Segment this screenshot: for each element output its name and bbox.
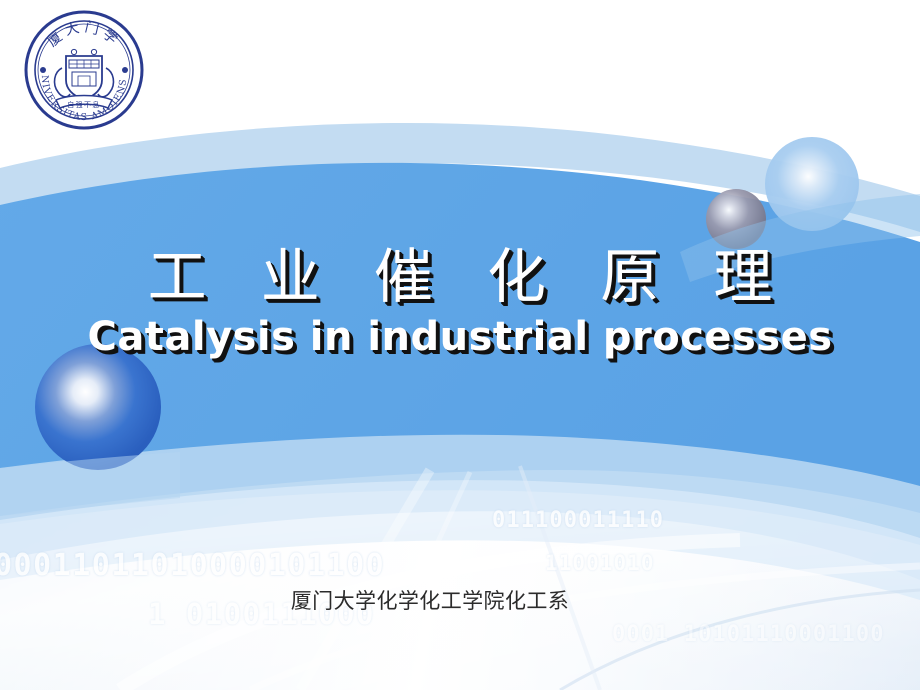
binary-decor-5: 0001 10101110001100 (612, 622, 885, 647)
binary-decor-4: 11001010 (545, 551, 655, 575)
seal-star-left (40, 67, 46, 73)
sphere-grey-small (706, 189, 766, 249)
title-block: 工 业 催 化 原 理 Catalysis in industrial proc… (0, 246, 920, 360)
sphere-pale-blue-right (765, 137, 859, 231)
binary-decor-3: 011100011110 (492, 508, 664, 533)
title-slide: 00011011010000101100 1 0100111000 011100… (0, 0, 920, 690)
binary-decor-1: 00011011010000101100 (0, 548, 385, 583)
main-title: 工 业 催 化 原 理 (0, 246, 920, 308)
university-seal-logo: UNIVERSITAS AMOIENSIS 厦大门学 (22, 8, 146, 132)
sub-title: Catalysis in industrial processes (0, 314, 920, 360)
footer-organization: 厦门大学化学化工学院化工系 (0, 585, 920, 615)
wave-band-pale-top (0, 123, 920, 232)
seal-motto: 自强不息 (67, 100, 101, 109)
seal-star-right (122, 67, 128, 73)
